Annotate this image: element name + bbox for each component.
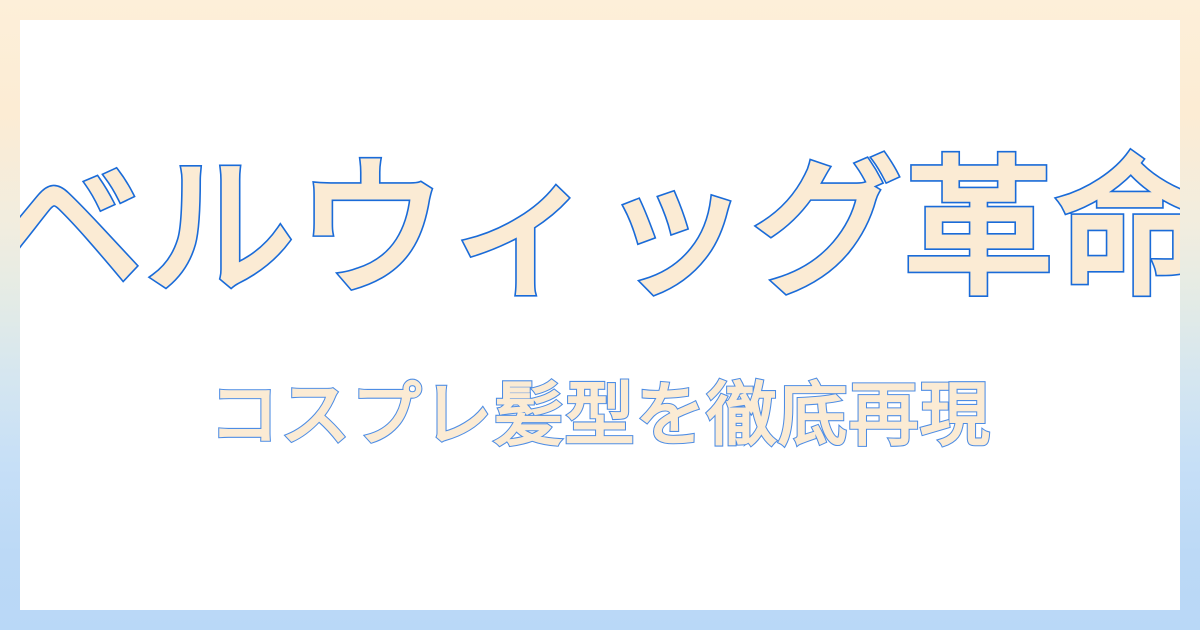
banner-text-stack: ベルウィッグ革命 コスプレ髪型を徹底再現 bbox=[20, 20, 1180, 610]
banner-title: ベルウィッグ革命 bbox=[20, 154, 1180, 307]
banner-subtitle: コスプレ髪型を徹底再現 bbox=[209, 379, 991, 453]
hero-banner: ベルウィッグ革命 コスプレ髪型を徹底再現 bbox=[0, 0, 1200, 630]
banner-card: ベルウィッグ革命 コスプレ髪型を徹底再現 bbox=[20, 20, 1180, 610]
